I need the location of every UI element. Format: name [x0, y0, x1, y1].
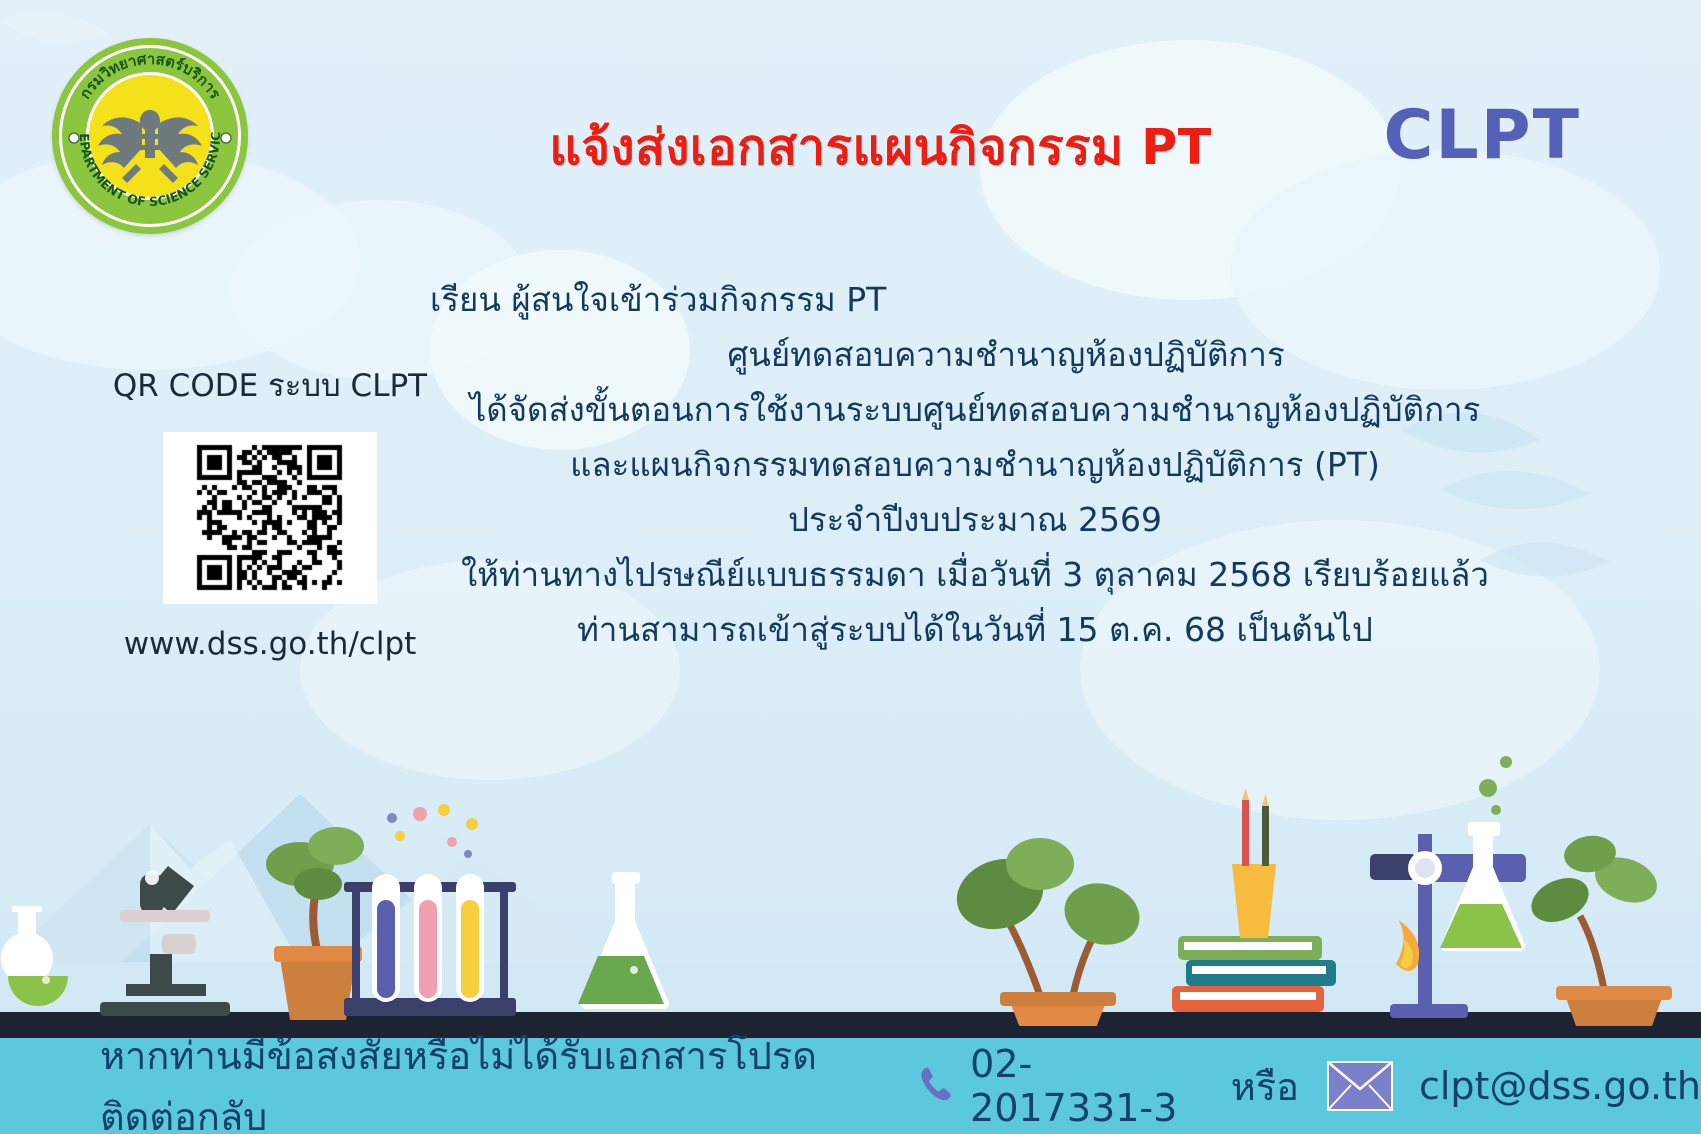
poster-canvas: กรมวิทยาศาสตร์บริการ DEPARTMENT OF SCIEN… — [0, 0, 1701, 1134]
body-line: และแผนกิจกรรมทดสอบความชำนาญห้องปฏิบัติกา… — [430, 437, 1520, 492]
qr-code-image[interactable] — [163, 432, 377, 604]
qr-url-text: www.dss.go.th/clpt — [105, 626, 435, 662]
flame-icon — [1396, 920, 1419, 971]
page-title: แจ้งส่งเอกสารแผนกิจกรรม PT — [0, 108, 1701, 186]
body-line: ประจำปีงบประมาณ 2569 — [430, 492, 1520, 547]
body-line: ท่านสามารถเข้าสู่ระบบได้ในวันที่ 15 ต.ค.… — [430, 602, 1520, 657]
qr-label: QR CODE ระบบ CLPT — [105, 360, 435, 410]
qr-section: QR CODE ระบบ CLPT www.dss.go.th/clpt — [105, 360, 435, 662]
page-title-text: แจ้งส่งเอกสารแผนกิจกรรม PT — [549, 108, 1211, 186]
footer-conjunction: หรือ — [1231, 1056, 1299, 1117]
body-copy: เรียน ผู้สนใจเข้าร่วมกิจกรรม PT ศูนย์ทดส… — [430, 272, 1520, 657]
body-line: ให้ท่านทางไปรษณีย์แบบธรรมดา เมื่อวันที่ … — [430, 547, 1520, 602]
envelope-icon — [1327, 1061, 1393, 1111]
body-line: ได้จัดส่งขั้นตอนการใช้งานระบบศูนย์ทดสอบค… — [430, 382, 1520, 437]
erlenmeyer-flask-icon — [578, 872, 664, 1004]
seal-thai-text: กรมวิทยาศาสตร์บริการ — [76, 50, 225, 103]
footer-email[interactable]: clpt@dss.go.th — [1419, 1064, 1701, 1108]
qr-code-icon — [186, 444, 354, 592]
phone-icon — [914, 1063, 960, 1109]
body-line: เรียน ผู้สนใจเข้าร่วมกิจกรรม PT — [430, 272, 1520, 327]
footer-phone[interactable]: 02-2017331-3 — [970, 1042, 1211, 1130]
footer-message: หากท่านมีข้อสงสัยหรือไม่ได้รับเอกสารโปรด… — [100, 1025, 890, 1134]
books-stack-icon — [1172, 788, 1336, 1012]
contact-footer: หากท่านมีข้อสงสัยหรือไม่ได้รับเอกสารโปรด… — [0, 1038, 1701, 1134]
pencil-icon — [1242, 788, 1269, 866]
svg-text:กรมวิทยาศาสตร์บริการ: กรมวิทยาศาสตร์บริการ — [76, 50, 225, 103]
body-line: ศูนย์ทดสอบความชำนาญห้องปฏิบัติการ — [430, 327, 1520, 382]
